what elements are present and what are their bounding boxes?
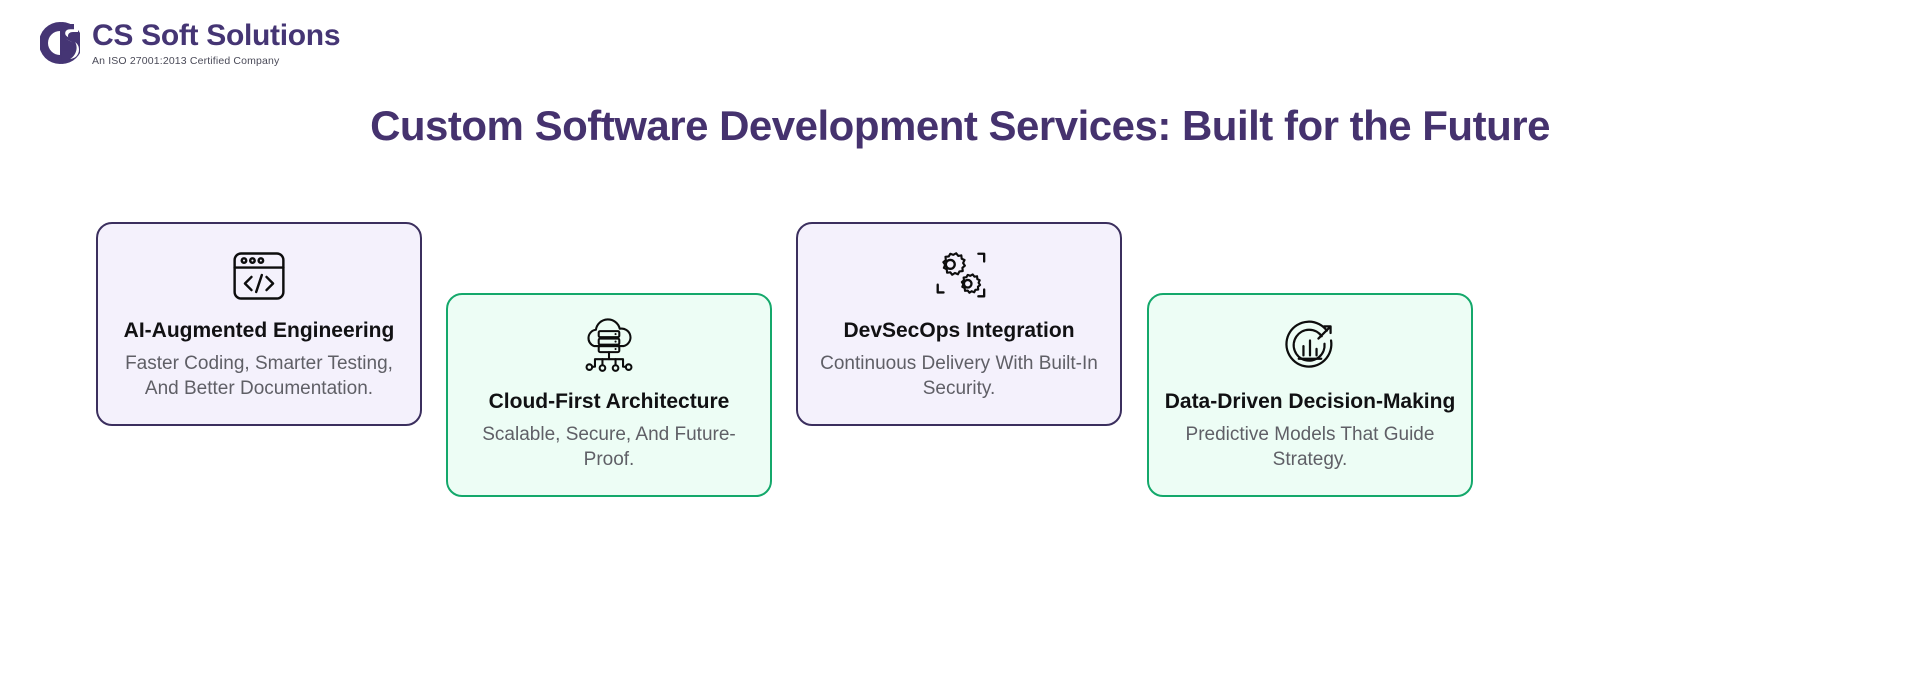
card-description: Predictive Models That Guide Strategy. <box>1167 423 1453 472</box>
card-description: Scalable, Secure, And Future-Proof. <box>466 423 752 472</box>
brand-logo[interactable]: CS Soft Solutions An ISO 27001:2013 Cert… <box>40 20 340 67</box>
card-title: AI-Augmented Engineering <box>124 318 395 344</box>
page-title: Custom Software Development Services: Bu… <box>0 101 1920 151</box>
cs-monogram-logo-icon <box>40 20 80 66</box>
brand-text: CS Soft Solutions An ISO 27001:2013 Cert… <box>92 20 340 67</box>
card-title: Data-Driven Decision-Making <box>1165 389 1456 415</box>
brand-name: CS Soft Solutions <box>92 20 340 52</box>
code-window-icon <box>229 244 289 308</box>
feature-card-data-driven-decision-making[interactable]: Data-Driven Decision-Making Predictive M… <box>1147 293 1473 497</box>
feature-card-cloud-first-architecture[interactable]: Cloud-First Architecture Scalable, Secur… <box>446 293 772 497</box>
gears-security-icon <box>928 244 990 308</box>
card-description: Faster Coding, Smarter Testing, And Bett… <box>116 352 402 401</box>
feature-card-ai-augmented-engineering[interactable]: AI-Augmented Engineering Faster Coding, … <box>96 222 422 426</box>
analytics-target-icon <box>1281 315 1339 379</box>
feature-card-devsecops-integration[interactable]: DevSecOps Integration Continuous Deliver… <box>796 222 1122 426</box>
page-root: CS Soft Solutions An ISO 27001:2013 Cert… <box>0 0 1920 700</box>
brand-tagline: An ISO 27001:2013 Certified Company <box>92 55 340 67</box>
card-title: Cloud-First Architecture <box>489 389 730 415</box>
card-description: Continuous Delivery With Built-In Securi… <box>816 352 1102 401</box>
card-title: DevSecOps Integration <box>843 318 1074 344</box>
cloud-server-icon <box>578 315 640 379</box>
